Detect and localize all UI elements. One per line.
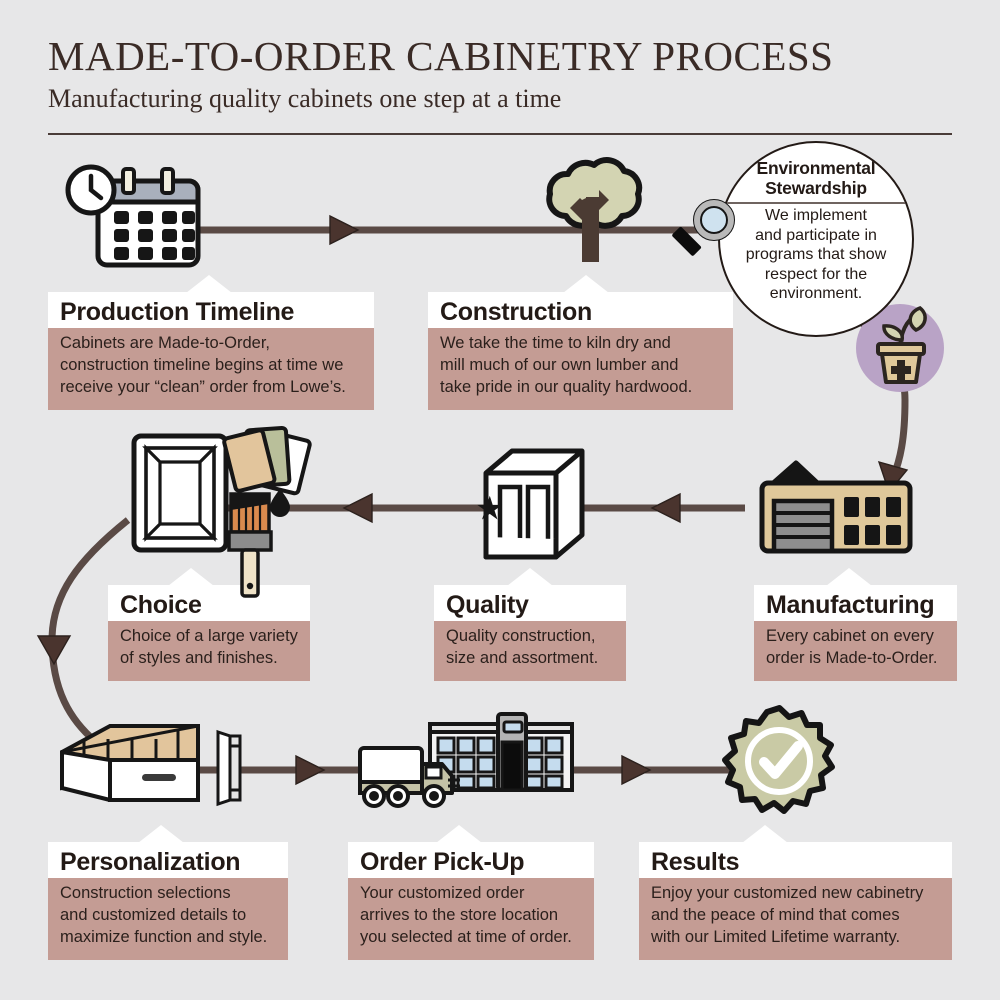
card-body: Choice of a large variety of styles and … bbox=[108, 621, 310, 681]
card-body: Construction selections and customized d… bbox=[48, 878, 288, 960]
drawer-icon bbox=[58, 722, 203, 807]
tree-icon bbox=[528, 152, 658, 272]
card-body: Your customized order arrives to the sto… bbox=[348, 878, 594, 960]
card-title: Choice bbox=[108, 585, 310, 621]
factory-icon bbox=[748, 455, 916, 560]
step-card-production-timeline: Production Timeline Cabinets are Made-to… bbox=[48, 292, 374, 410]
calendar-clock-icon bbox=[62, 163, 207, 278]
picture-frame-icon bbox=[130, 432, 230, 554]
card-title: Construction bbox=[428, 292, 733, 328]
card-body: Quality construction, size and assortmen… bbox=[434, 621, 626, 681]
magnifying-glass-icon bbox=[668, 195, 758, 275]
card-title: Production Timeline bbox=[48, 292, 374, 328]
card-title: Personalization bbox=[48, 842, 288, 878]
step-card-manufacturing: Manufacturing Every cabinet on every ord… bbox=[754, 585, 957, 681]
step-card-personalization: Personalization Construction selections … bbox=[48, 842, 288, 960]
card-body: Cabinets are Made-to-Order, construction… bbox=[48, 328, 374, 410]
delivery-truck-icon bbox=[356, 742, 471, 812]
card-body: Enjoy your customized new cabinetry and … bbox=[639, 878, 952, 960]
card-title: Order Pick-Up bbox=[348, 842, 594, 878]
card-title: Quality bbox=[434, 585, 626, 621]
card-title: Manufacturing bbox=[754, 585, 957, 621]
card-body: Every cabinet on every order is Made-to-… bbox=[754, 621, 957, 681]
cabinet-icon bbox=[478, 443, 588, 568]
card-title: Results bbox=[639, 842, 952, 878]
step-card-order-pick-up: Order Pick-Up Your customized order arri… bbox=[348, 842, 594, 960]
step-card-choice: Choice Choice of a large variety of styl… bbox=[108, 585, 310, 681]
infographic-canvas: MADE-TO-ORDER CABINETRY PROCESS Manufact… bbox=[0, 0, 1000, 1000]
cabinet-handle-icon bbox=[212, 728, 244, 808]
step-card-construction: Construction We take the time to kiln dr… bbox=[428, 292, 733, 410]
callout-title: Environmental Stewardship bbox=[757, 159, 876, 198]
card-body: We take the time to kiln dry and mill mu… bbox=[428, 328, 733, 410]
check-badge-icon bbox=[722, 706, 837, 821]
step-card-quality: Quality Quality construction, size and a… bbox=[434, 585, 626, 681]
step-card-results: Results Enjoy your customized new cabine… bbox=[639, 842, 952, 960]
paint-drop-icon bbox=[268, 487, 292, 517]
